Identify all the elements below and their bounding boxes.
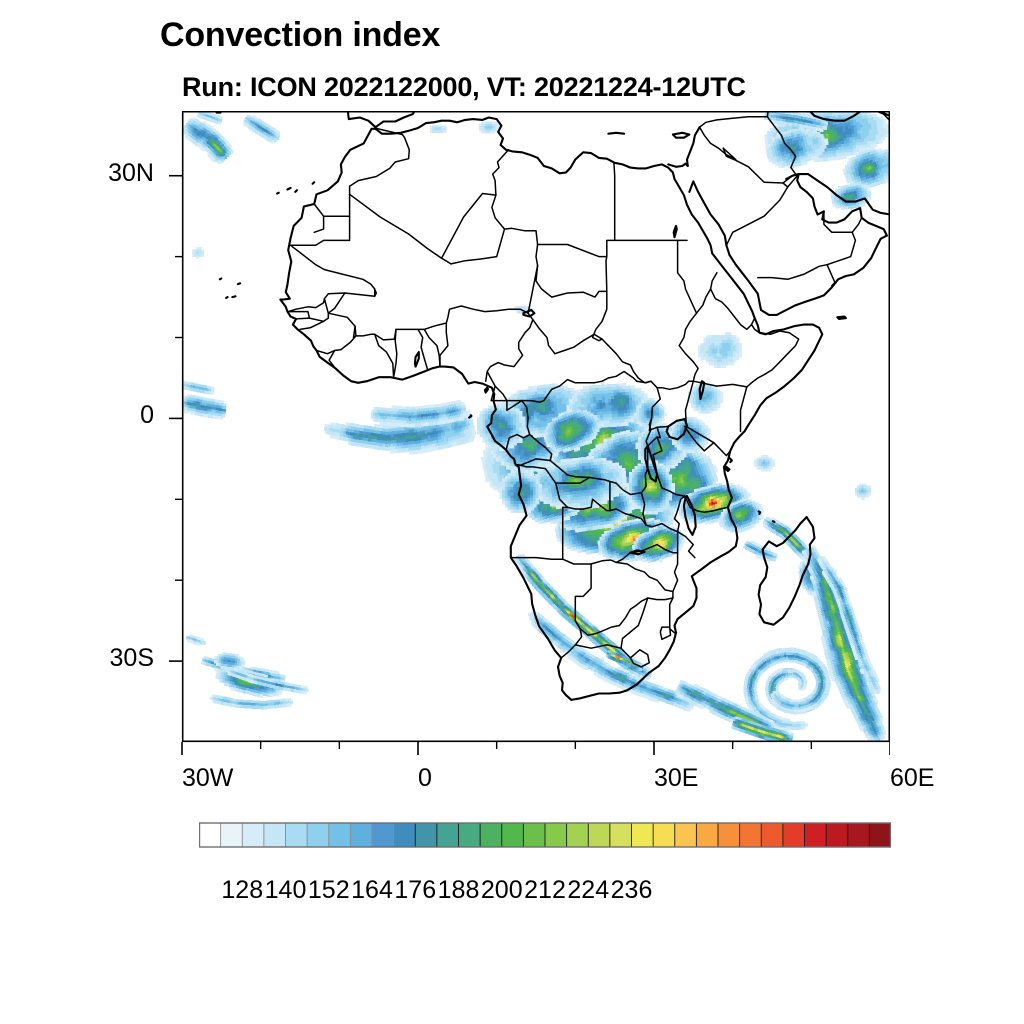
colorbar-cells bbox=[199, 822, 891, 850]
x-axis-label-text: 30W bbox=[182, 764, 233, 792]
x-axis-label-text: 0 bbox=[418, 764, 432, 792]
x-axis-label-text: 30E bbox=[654, 764, 698, 792]
page-title: Convection index bbox=[160, 16, 440, 55]
y-axis-label-30n: 30N bbox=[108, 159, 160, 188]
figure-subtitle: Run: ICON 2022122000, VT: 20221224-12UTC bbox=[182, 72, 746, 103]
map-canvas bbox=[160, 111, 890, 766]
convection-index-figure: Convection index Run: ICON 2022122000, V… bbox=[0, 0, 1024, 1024]
colorbar bbox=[199, 822, 891, 870]
x-axis-label-text: 60E bbox=[890, 764, 934, 792]
map-plot-area bbox=[160, 111, 890, 766]
y-axis-label-0: 0 bbox=[140, 401, 160, 430]
colorbar-tick-236: 236 bbox=[602, 876, 662, 905]
y-axis-label-30s: 30S bbox=[110, 644, 160, 673]
